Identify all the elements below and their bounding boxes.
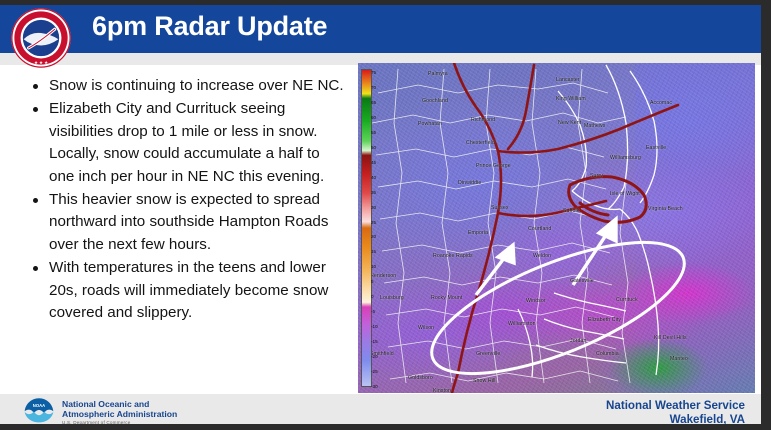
scale-tick-label: -30 <box>371 384 378 389</box>
map-place-label: Prince George <box>476 163 511 169</box>
map-place-label: Dinwiddie <box>458 180 481 186</box>
map-place-label: Windsor <box>526 298 546 304</box>
map-place-label: New Kent <box>558 120 581 126</box>
national-weather-service-seal-icon: ★ ★ ★ <box>10 7 72 69</box>
noaa-line-1: National Oceanic and <box>62 399 177 409</box>
svg-text:NOAA: NOAA <box>33 403 45 408</box>
map-place-label: Greenville <box>476 351 500 357</box>
map-place-label: Gatesville <box>570 278 594 284</box>
scale-tick-label: 55 <box>371 130 376 135</box>
map-place-label: Henderson <box>370 273 396 279</box>
scale-tick-label: 45 <box>371 160 376 165</box>
map-place-label: Snow Hill <box>473 378 496 384</box>
map-place-label: Emporia <box>468 230 488 236</box>
scale-tick-label: 60 <box>371 115 376 120</box>
map-place-label: Surry <box>590 173 603 179</box>
map-place-label: Eastville <box>646 145 666 151</box>
list-item: Snow is continuing to increase over NE N… <box>26 75 344 97</box>
map-place-label: Virginia Beach <box>648 206 683 212</box>
map-annotations <box>358 63 755 393</box>
scale-tick-label: 5 <box>371 279 374 284</box>
map-place-label: Accomac <box>650 100 672 106</box>
scale-tick-label: 25 <box>371 220 376 225</box>
nws-office-name: National Weather Service <box>606 399 745 413</box>
letterbox-right <box>761 0 771 430</box>
scale-tick-label: 10 <box>371 264 376 269</box>
scale-tick-label: 35 <box>371 190 376 195</box>
scale-tick-label: 65 <box>371 100 376 105</box>
map-place-label: Palmyra <box>428 71 448 77</box>
map-place-label: Powhatan <box>418 121 442 127</box>
map-place-label: Goochland <box>422 98 448 104</box>
list-item: This heavier snow is expected to spread … <box>26 189 344 256</box>
scale-tick-label: 50 <box>371 145 376 150</box>
noaa-wordmark: National Oceanic and Atmospheric Adminis… <box>62 399 177 419</box>
page-title: 6pm Radar Update <box>92 11 327 42</box>
radar-map-canvas: PalmyraGoochlandPowhatanRichmondKing Wil… <box>358 63 755 393</box>
map-place-label: Suffolk <box>563 208 579 214</box>
map-place-label: Kill Devil Hills <box>654 335 687 341</box>
map-place-label: Williamston <box>508 321 536 327</box>
list-item: Elizabeth City and Currituck seeing visi… <box>26 98 344 188</box>
scale-tick-label: 70 <box>371 85 376 90</box>
map-place-label: Currituck <box>616 297 638 303</box>
noaa-logo-icon: NOAA <box>22 397 56 423</box>
nws-office-credit: National Weather Service Wakefield, VA <box>606 399 745 424</box>
scale-tick-label: -10 <box>371 324 378 329</box>
map-place-label: King William <box>556 96 586 102</box>
scale-tick-label: 30 <box>371 205 376 210</box>
scale-tick-label: 75 <box>371 70 376 75</box>
map-place-label: Lancaster <box>556 77 580 83</box>
scale-tick-label: 40 <box>371 175 376 180</box>
scale-tick-label: 20 <box>371 234 376 239</box>
map-place-label: Louisburg <box>380 295 404 301</box>
highlight-ellipse-icon <box>416 216 700 393</box>
svg-text:★ ★ ★: ★ ★ ★ <box>34 60 48 65</box>
scale-tick-label: -5 <box>371 309 375 314</box>
radar-map-image: PalmyraGoochlandPowhatanRichmondKing Wil… <box>358 63 755 393</box>
letterbox-bottom <box>0 424 771 430</box>
map-place-label: Elizabeth City <box>588 317 621 323</box>
scale-tick-label: 0 <box>371 294 374 299</box>
nws-office-location: Wakefield, VA <box>606 413 745 424</box>
map-place-label: Williamsburg <box>610 155 641 161</box>
bullet-list: Snow is continuing to increase over NE N… <box>26 75 344 324</box>
scale-tick-label: -25 <box>371 369 378 374</box>
map-place-label: Goldsboro <box>408 375 433 381</box>
presentation-slide: ★ ★ ★ 6pm Radar Update Snow is continuin… <box>0 5 761 424</box>
map-place-label: Manteo <box>670 356 688 362</box>
map-place-label: Wilson <box>418 325 434 331</box>
map-place-label: Isle of Wight <box>610 191 640 197</box>
noaa-line-2: Atmospheric Administration <box>62 409 177 419</box>
list-item: With temperatures in the teens and lower… <box>26 257 344 324</box>
map-place-label: Mathews <box>584 123 605 129</box>
scale-tick-label: 15 <box>371 249 376 254</box>
map-place-label: Columbia <box>596 351 619 357</box>
letterbox-top <box>0 0 771 5</box>
map-place-label: Richmond <box>471 117 495 123</box>
map-place-label: Weldon <box>533 253 551 259</box>
scale-tick-label: -20 <box>371 354 378 359</box>
map-place-label: Roanoke Rapids <box>433 253 473 259</box>
map-place-label: Chesterfield <box>466 140 495 146</box>
map-place-label: Kinston <box>433 388 451 393</box>
screenshot-frame: ★ ★ ★ 6pm Radar Update Snow is continuin… <box>0 0 771 430</box>
bullet-list-container: Snow is continuing to increase over NE N… <box>26 75 344 325</box>
map-place-label: Sussex <box>491 205 509 211</box>
scale-tick-label: -15 <box>371 339 378 344</box>
map-place-label: Rocky Mount <box>431 295 462 301</box>
map-place-label: Jordan <box>570 338 586 344</box>
map-place-label: Courtland <box>528 226 551 232</box>
